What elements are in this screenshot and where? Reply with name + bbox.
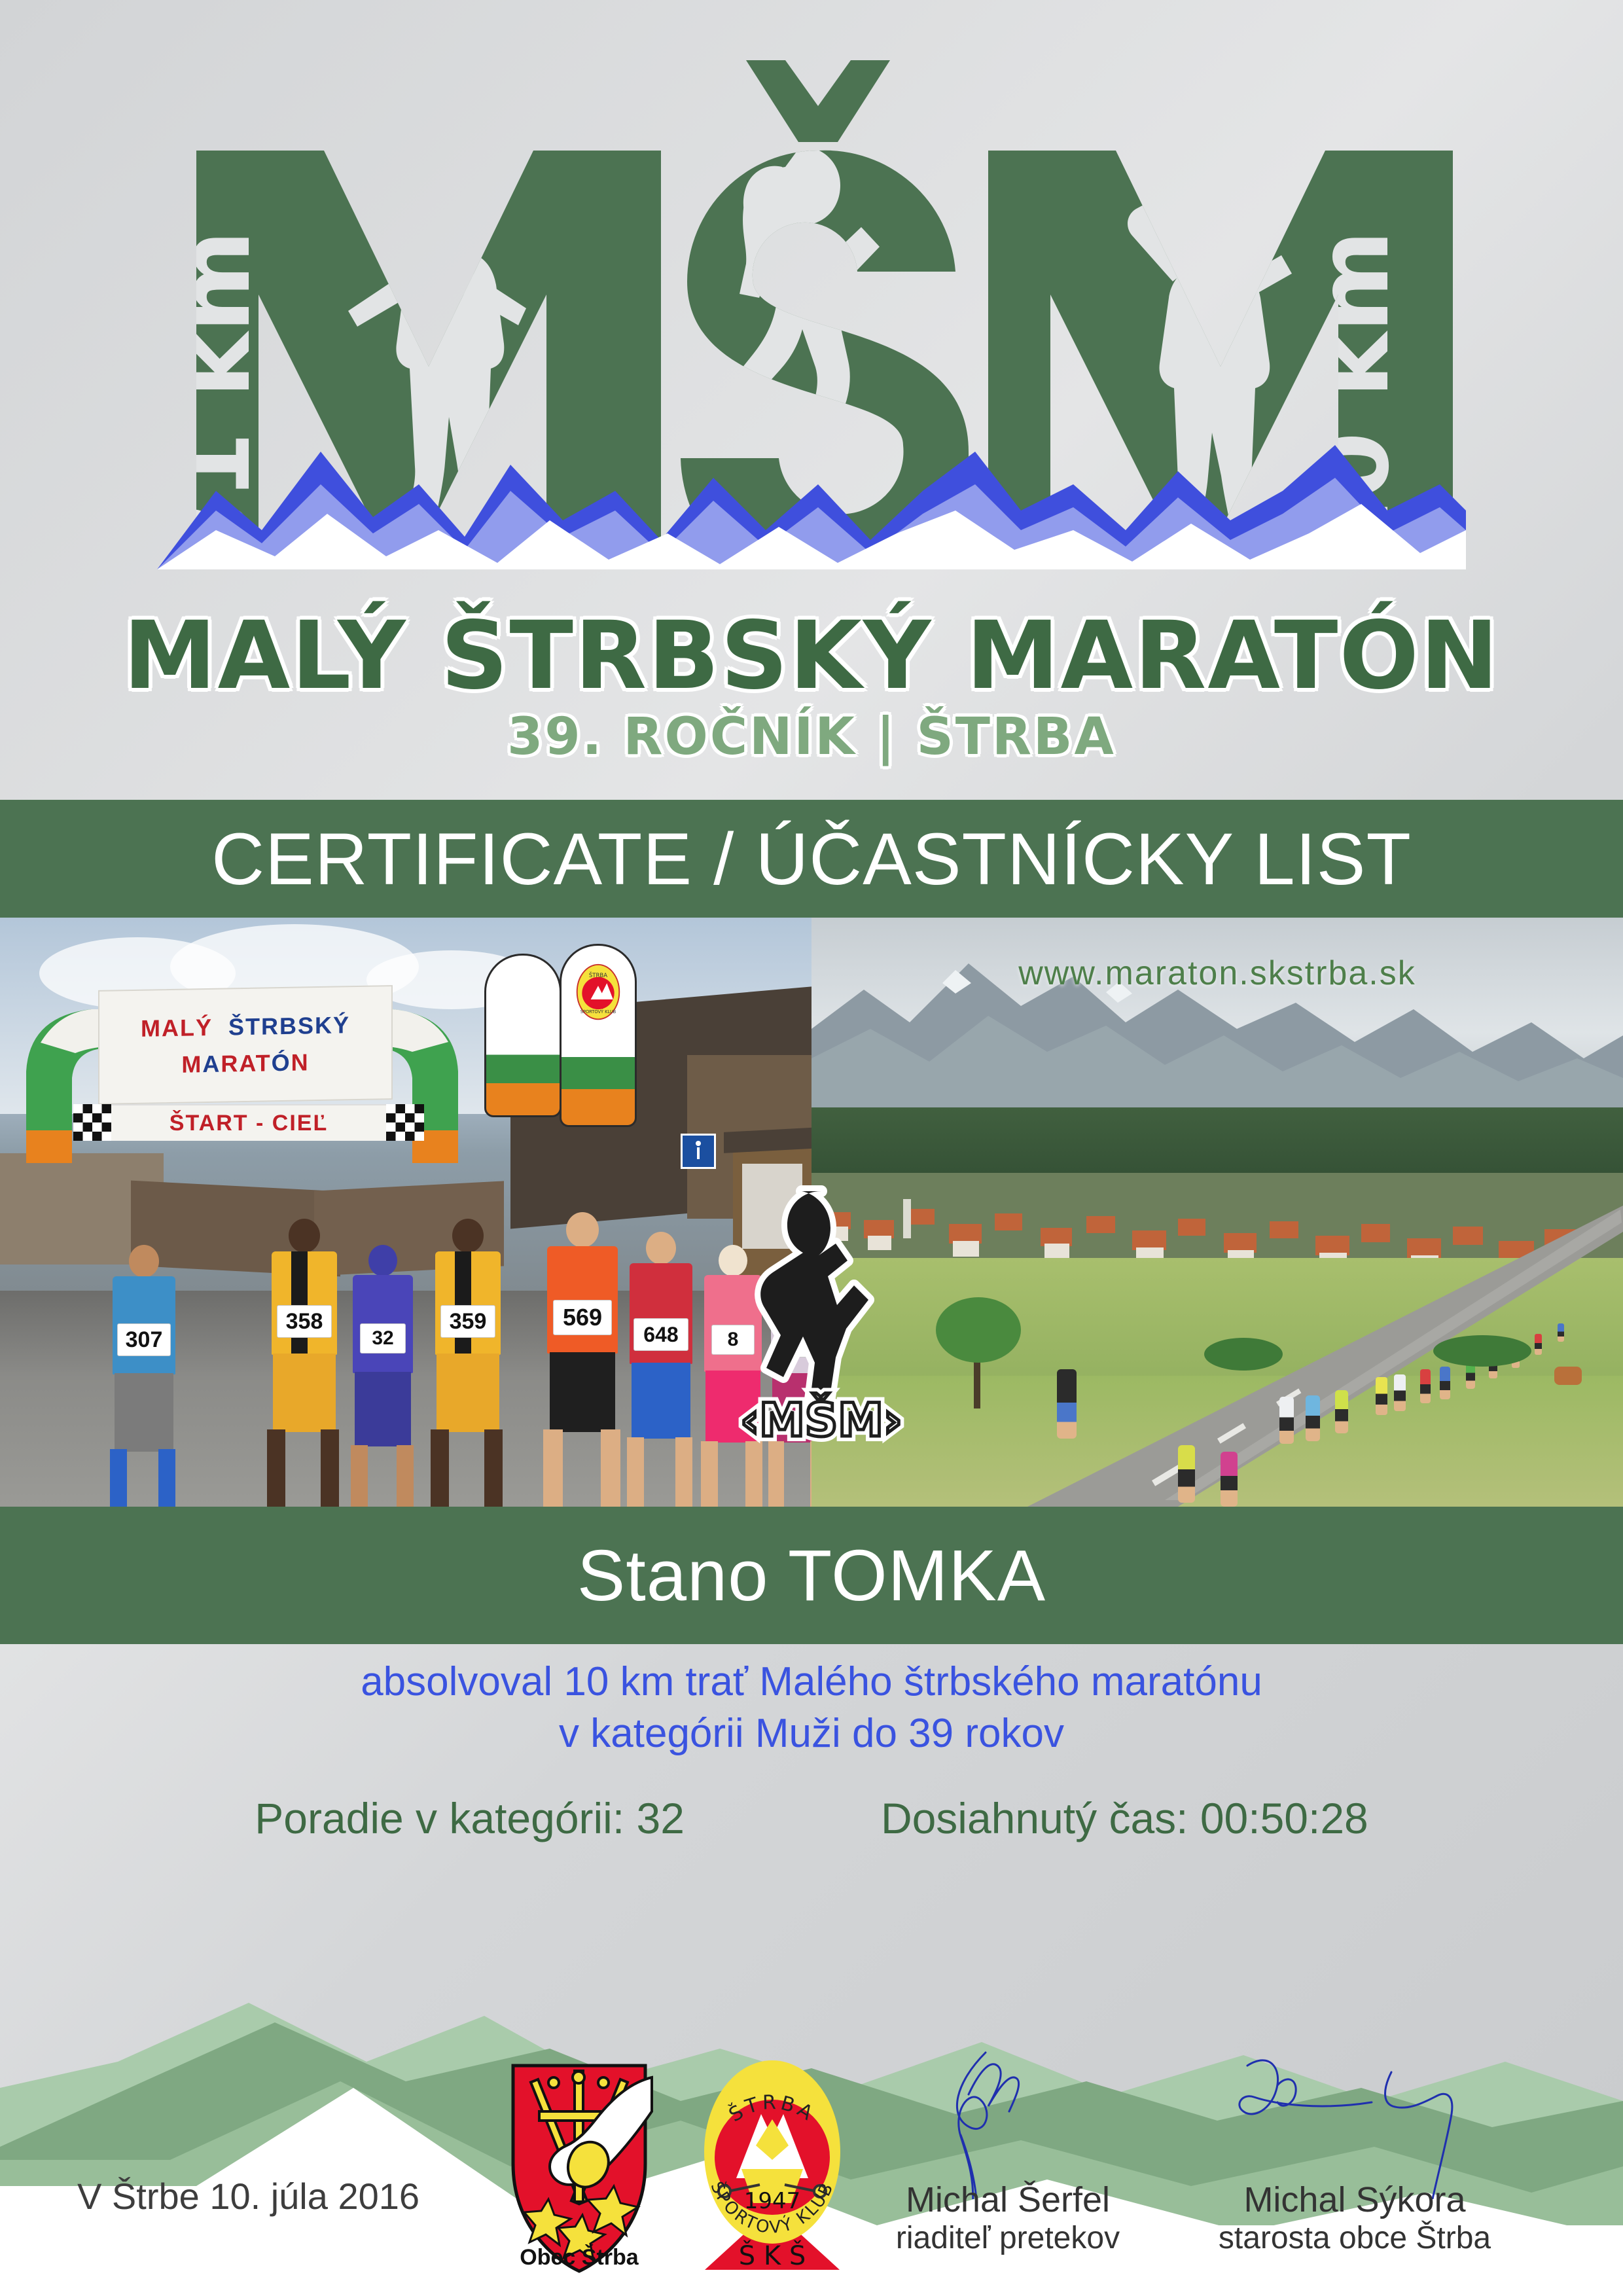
cow [1554,1367,1582,1385]
tree [936,1297,1021,1408]
footer: V Štrbe 10. júla 2016 Obec Štrba [0,2049,1623,2296]
club-abbrev: Š K Š [739,2240,806,2270]
arch-banner-line2: MARATÓN [181,1049,309,1078]
runner: 359 [419,1219,517,1507]
photo-course-road: www.maraton.skstrba.sk [811,918,1623,1507]
svg-text:ŠPORTOVÝ KLUB: ŠPORTOVÝ KLUB [580,1009,616,1014]
signature-name: Michal Sýkora [1204,2179,1505,2220]
club-year: 1947 [744,2188,801,2214]
certificate-line-1: absolvoval 10 km trať Malého štrbského m… [0,1656,1623,1708]
photo-race-start: MALÝ ŠTRBSKÝ MARATÓN ŠTART - CIEĽ ŠTRBA … [0,918,811,1507]
runner: 307 [98,1245,190,1507]
category-rank: Poradie v kategórii: 32 [255,1793,685,1843]
participant-name: Stano TOMKA [577,1534,1046,1617]
sponsor-flag-sks: ŠTRBA ŠPORTOVÝ KLUB [560,944,637,1127]
caron-mark [746,60,890,142]
runner [1394,1374,1406,1411]
signature-name: Michal Šerfel [857,2179,1158,2220]
runner: 32 [340,1245,425,1507]
participant-name-band: Stano TOMKA [0,1507,1623,1644]
certificate-page: 31 km 10 km [0,0,1623,2296]
runner [1221,1452,1238,1507]
signature-mark [1204,2049,1505,2199]
sks-club-logo: 1947 ŠTRBA ŠPORTOVÝ KLUB Š K Š [690,2054,854,2270]
runner [1376,1377,1387,1415]
result-row: Poradie v kategórii: 32 Dosiahnutý čas: … [0,1793,1623,1843]
start-finish-banner: ŠTART - CIEĽ [111,1104,386,1141]
signature-role: riaditeľ pretekov [857,2220,1158,2256]
msm-logo: 31 km 10 km [157,33,1466,569]
arch-banner: MALÝ ŠTRBSKÝ MARATÓN [98,985,393,1105]
certificate-band-title: CERTIFICATE / ÚČASTNÍCKY LIST [211,817,1412,901]
checkered-flag-right [386,1104,424,1141]
certificate-band: CERTIFICATE / ÚČASTNÍCKY LIST [0,800,1623,918]
obec-strba-crest [504,2060,654,2276]
runner-pack: 307 358 32 [0,1199,811,1507]
event-title: MALÝ ŠTRBSKÝ MARATÓN [0,609,1623,702]
runner [1335,1390,1348,1433]
hero-header: 31 km 10 km [0,0,1623,800]
runner: 358 [255,1219,353,1507]
certificate-line-2: v kategórii Muži do 39 rokov [0,1708,1623,1759]
checkered-flag-left [73,1104,111,1141]
runner [1306,1395,1320,1441]
sponsor-flag-tatry [484,954,562,1117]
svg-text:ŠTRBA: ŠTRBA [589,971,607,979]
finish-time: Dosiahnutý čas: 00:50:28 [881,1793,1368,1843]
website-url: www.maraton.skstrba.sk [811,954,1623,993]
runner [1535,1334,1542,1355]
msm-runner-sticker: ‹MŠM› ‹MŠM› [723,1172,919,1446]
runner [1440,1367,1450,1399]
signature-role: starosta obce Štrba [1204,2220,1505,2256]
msm-logo-svg: 31 km 10 km [157,33,1466,569]
inflatable-start-arch: MALÝ ŠTRBSKÝ MARATÓN ŠTART - CIEĽ [13,973,471,1163]
issue-date: V Štrbe 10. júla 2016 [77,2175,419,2217]
bush [1204,1338,1283,1371]
runner [1178,1445,1195,1503]
event-title-block: MALÝ ŠTRBSKÝ MARATÓN 39. ROČNÍK | ŠTRBA [0,609,1623,762]
crosswalk-sign [681,1134,716,1169]
crest-label: Obec Štrba [504,2245,654,2270]
signature-mark [857,2049,1158,2199]
event-subtitle: 39. ROČNÍK | ŠTRBA [0,711,1623,762]
arch-banner-line1: MALÝ ŠTRBSKÝ [141,1011,350,1043]
sticker-label: ‹MŠM› [740,1393,902,1446]
runner [1420,1369,1431,1403]
spectator [1057,1369,1077,1439]
bush [1433,1335,1531,1367]
certificate-body: absolvoval 10 km trať Malého štrbského m… [0,1656,1623,1760]
runner [1279,1397,1294,1444]
runner [1558,1323,1564,1342]
